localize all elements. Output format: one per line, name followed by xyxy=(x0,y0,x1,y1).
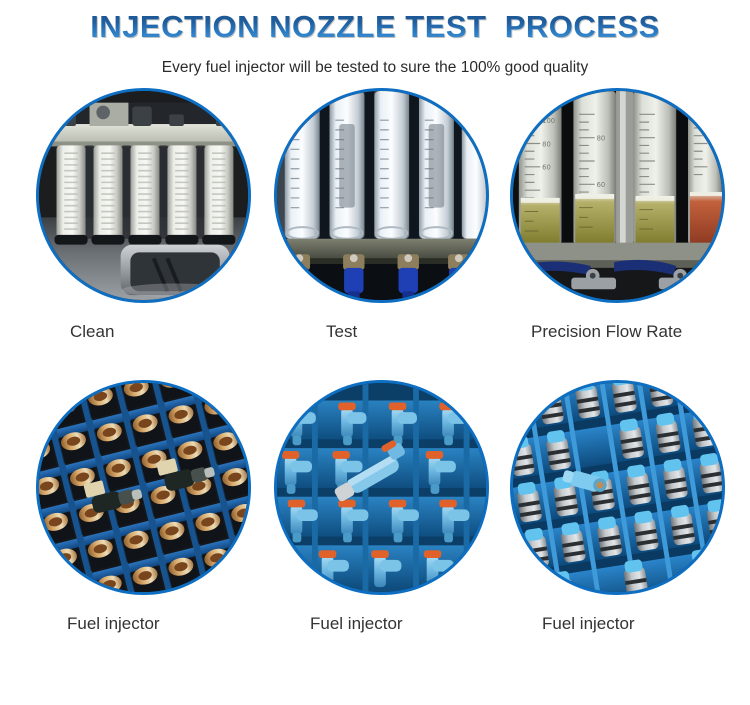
page-title: INJECTION NOZZLE TEST PROCESS xyxy=(0,8,750,46)
gallery-item-clean[interactable]: Clean xyxy=(10,78,260,370)
photo-clean xyxy=(36,88,251,303)
photo-precision-flow-rate: 100 80 60 80 60 xyxy=(510,88,725,303)
process-gallery: Clean xyxy=(0,78,750,662)
photo-test xyxy=(274,88,489,303)
circle-photo-frame: 100 80 60 80 60 xyxy=(510,88,725,303)
page-subtitle: Every fuel injector will be tested to su… xyxy=(0,58,750,78)
svg-text:80: 80 xyxy=(597,135,606,143)
gallery-item-fuel-injector-grey[interactable]: Fuel injector xyxy=(484,370,734,662)
circle-photo-frame xyxy=(274,380,489,595)
gallery-item-precision-flow-rate[interactable]: 100 80 60 80 60 xyxy=(484,78,734,370)
svg-text:80: 80 xyxy=(542,140,551,148)
circle-photo-frame xyxy=(510,380,725,595)
gallery-item-test[interactable]: Test xyxy=(248,78,498,370)
caption-label: Fuel injector xyxy=(484,613,750,635)
photo-fuel-injector-blue xyxy=(274,380,489,595)
circle-photo-frame xyxy=(274,88,489,303)
photo-fuel-injector-brown xyxy=(36,380,251,595)
gallery-item-fuel-injector-brown[interactable]: Fuel injector xyxy=(10,370,260,662)
svg-text:100: 100 xyxy=(542,117,555,125)
gallery-row: Clean xyxy=(0,78,750,370)
gallery-item-fuel-injector-blue[interactable]: Fuel injector xyxy=(248,370,498,662)
page-header: INJECTION NOZZLE TEST PROCESS Every fuel… xyxy=(0,0,750,78)
caption-label: Precision Flow Rate xyxy=(484,321,750,343)
svg-text:60: 60 xyxy=(597,181,606,189)
circle-photo-frame xyxy=(36,88,251,303)
gallery-row: Fuel injector xyxy=(0,370,750,662)
svg-text:60: 60 xyxy=(542,164,551,172)
photo-fuel-injector-grey xyxy=(510,380,725,595)
circle-photo-frame xyxy=(36,380,251,595)
